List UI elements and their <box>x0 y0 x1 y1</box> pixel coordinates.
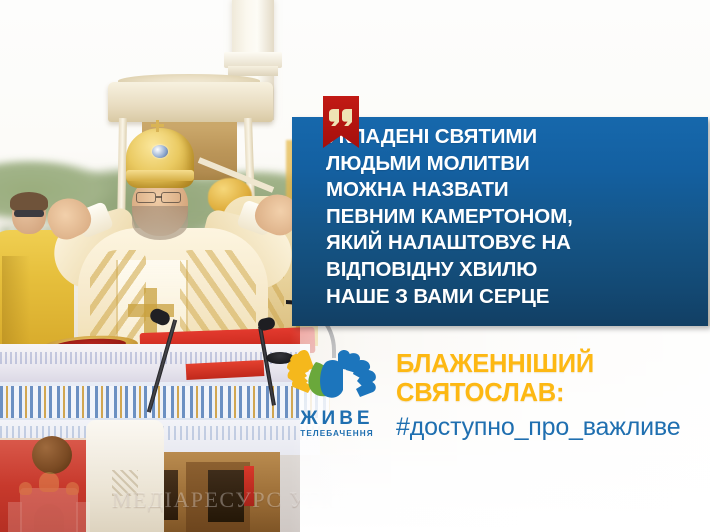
cathedral-tower-right <box>76 502 90 532</box>
cathedral-dome-center <box>39 472 59 492</box>
dark-recess-right <box>208 470 244 522</box>
cathedral-dome-right <box>66 482 79 495</box>
bishop-glasses-left <box>136 192 156 203</box>
deacon-robe-shade <box>2 256 30 346</box>
quote-panel: УКЛАДЕНІ СВЯТИМИ ЛЮДЬМИ МОЛИТВИ МОЖНА НА… <box>292 117 708 326</box>
quote-line-4: ПЕВНИМ КАМЕРТОНОМ, <box>326 204 702 231</box>
mitre-cross-horizontal <box>151 124 164 127</box>
bishop-glasses-bridge <box>156 196 162 198</box>
zhyve-tv-logo[interactable]: ЖИВЕ ТЕЛЕБАЧЕННЯ <box>286 346 388 454</box>
deacon-hair <box>10 192 48 212</box>
pillar-capital-lower <box>228 66 278 76</box>
bishop-glasses-right <box>161 192 181 203</box>
deacon-sunglasses <box>14 210 44 217</box>
two-hands-leaf-icon <box>286 346 388 408</box>
bishop-beard <box>132 206 188 240</box>
altar-embroidery <box>0 386 330 418</box>
speaker-title-line-2: СВЯТОСЛАВ: <box>396 379 710 408</box>
quotation-mark-icon <box>329 109 353 129</box>
red-vertical-strip <box>244 466 254 506</box>
quote-text: УКЛАДЕНІ СВЯТИМИ ЛЮДЬМИ МОЛИТВИ МОЖНА НА… <box>326 124 702 310</box>
quote-line-7: НАШЕ З ВАМИ СЕРЦЕ <box>326 284 702 311</box>
hashtag[interactable]: #доступно_про_важливе <box>396 413 710 442</box>
quote-line-1: УКЛАДЕНІ СВЯТИМИ <box>326 124 702 151</box>
cathedral-dome-left <box>19 482 32 495</box>
mitre-gem <box>152 145 168 158</box>
alb-cross-pattern <box>112 470 138 496</box>
canopy <box>108 82 273 122</box>
brand-block: ЖИВЕ ТЕЛЕБАЧЕННЯ БЛАЖЕННІШИЙ СВЯТОСЛАВ: … <box>286 342 710 462</box>
quote-mark-ribbon <box>323 96 359 148</box>
quote-line-5: ЯКИЙ НАЛАШТОВУЄ НА <box>326 230 702 257</box>
speaker-title-block: БЛАЖЕННІШИЙ СВЯТОСЛАВ: #доступно_про_важ… <box>396 350 710 442</box>
cathedral-arch <box>34 504 64 532</box>
speaker-title-line-1: БЛАЖЕННІШИЙ <box>396 350 710 379</box>
quote-card-canvas: МЕДІАРЕСУРС УГКЦ УКЛАДЕНІ СВЯТИМИ ЛЮДЬМИ… <box>0 0 710 532</box>
cathedral-silhouette-icon <box>6 466 92 532</box>
logo-title: ЖИВЕ <box>286 408 388 430</box>
quote-line-6: ВІДПОВІДНУ ХВИЛЮ <box>326 257 702 284</box>
logo-subtitle: ТЕЛЕБАЧЕННЯ <box>286 429 388 438</box>
mitre-band <box>126 170 194 181</box>
quote-line-2: ЛЮДЬМИ МОЛИТВИ <box>326 151 702 178</box>
quote-line-3: МОЖНА НАЗВАТИ <box>326 177 702 204</box>
